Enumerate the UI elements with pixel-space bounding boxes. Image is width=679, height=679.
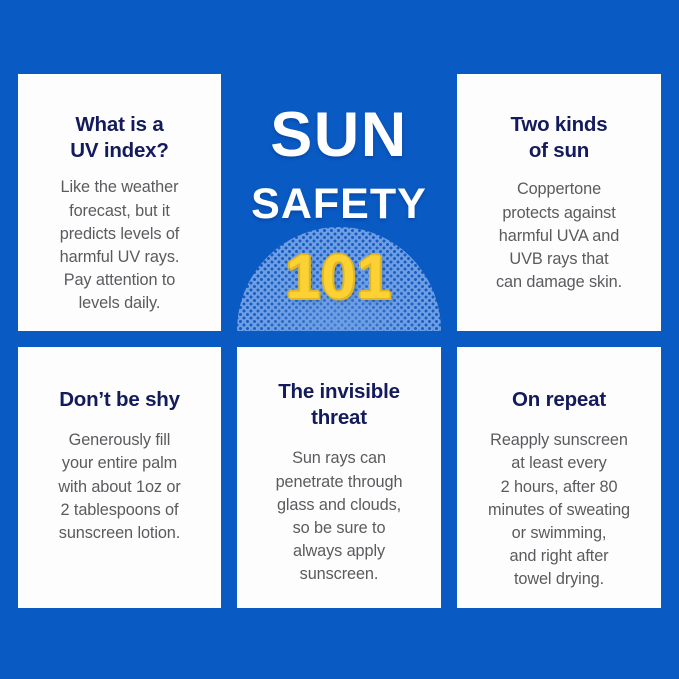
card-invisible-threat-title: The invisible threat [278,379,400,431]
hero-sun-safety-101: SUN SAFETY 101 [237,74,441,331]
card-two-kinds-of-sun: Two kinds of sun Coppertone protects aga… [457,74,661,331]
hero-title-line-1: SUN [270,104,408,167]
card-invisible-threat: The invisible threat Sun rays can penetr… [237,347,441,608]
card-uv-index-body: Like the weather forecast, but it predic… [60,176,180,315]
card-invisible-threat-body: Sun rays can penetrate through glass and… [276,447,403,586]
infographic-grid: What is a UV index? Like the weather for… [18,74,661,608]
card-uv-index-title: What is a UV index? [70,112,168,164]
card-two-kinds-of-sun-body: Coppertone protects against harmful UVA … [496,178,622,294]
hero-title-line-2: SAFETY [251,183,427,226]
card-two-kinds-of-sun-title: Two kinds of sun [511,112,608,164]
card-on-repeat-title: On repeat [512,387,606,413]
card-on-repeat-body: Reapply sunscreen at least every 2 hours… [488,429,630,591]
sun-safety-infographic: What is a UV index? Like the weather for… [0,0,679,679]
card-on-repeat: On repeat Reapply sunscreen at least eve… [457,347,661,608]
card-uv-index: What is a UV index? Like the weather for… [18,74,221,331]
hero-number-101: 101 [237,247,441,309]
card-dont-be-shy-title: Don’t be shy [59,387,180,413]
card-dont-be-shy: Don’t be shy Generously fill your entire… [18,347,221,608]
card-dont-be-shy-body: Generously fill your entire palm with ab… [58,429,180,545]
